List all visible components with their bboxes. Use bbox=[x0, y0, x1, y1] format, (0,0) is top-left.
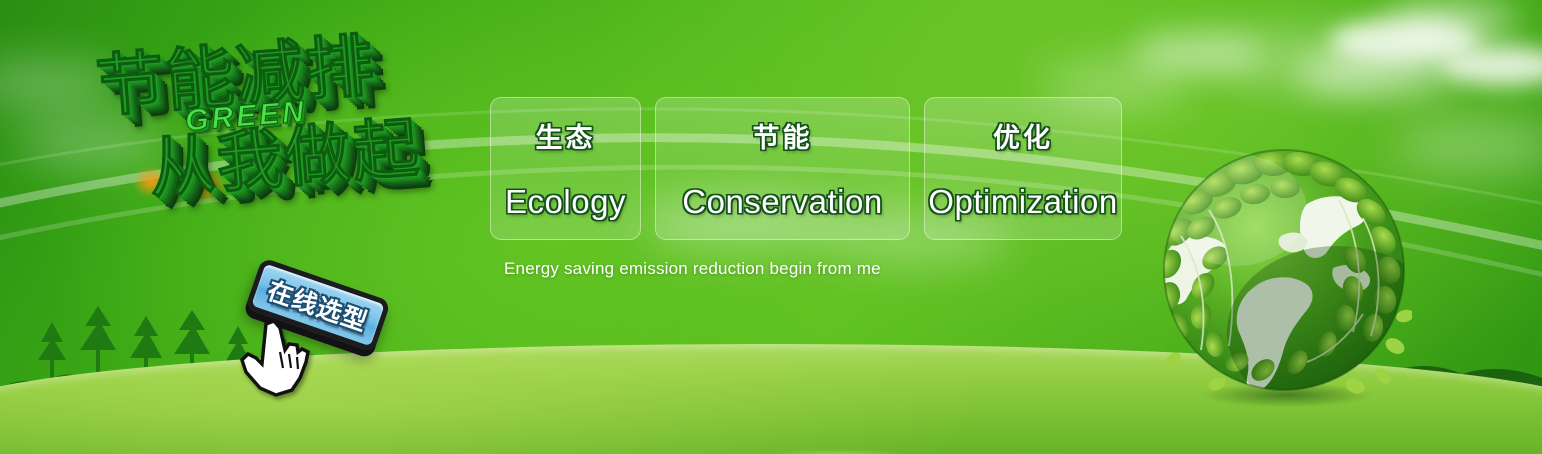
hero-title-line2: 从我做起 bbox=[146, 106, 498, 203]
cloud-icon bbox=[0, 62, 120, 106]
feature-card-title-en: Conservation bbox=[682, 183, 882, 221]
feature-card-title-cn: 优化 bbox=[993, 116, 1053, 155]
hero-title: 节能减排 GREEN 从我做起 bbox=[88, 21, 505, 282]
feature-card-ecology[interactable]: 生态 Ecology bbox=[490, 97, 641, 240]
eco-banner: 节能减排 GREEN 从我做起 在线选型 生态 Ecology 节能 Conse… bbox=[0, 0, 1542, 454]
cloud-icon bbox=[1386, 2, 1516, 42]
feature-card-title-en: Ecology bbox=[505, 183, 626, 221]
cloud-icon bbox=[1392, 120, 1542, 172]
cloud-icon bbox=[1216, 30, 1386, 88]
hero-title-line1: 节能减排 bbox=[94, 21, 492, 124]
cloud-icon bbox=[1296, 52, 1456, 96]
tagline: Energy saving emission reduction begin f… bbox=[504, 259, 881, 279]
cloud-icon bbox=[16, 120, 166, 166]
feature-card-title-cn: 节能 bbox=[753, 116, 813, 155]
flame-glow bbox=[115, 120, 449, 210]
cloud-icon bbox=[1132, 34, 1262, 72]
feature-card-title-en: Optimization bbox=[928, 183, 1117, 221]
feature-cards: 生态 Ecology 节能 Conservation 优化 Optimizati… bbox=[490, 97, 1122, 240]
ivy-covered-globe-icon bbox=[1157, 140, 1412, 402]
grass-texture bbox=[0, 398, 1542, 454]
cta-surface[interactable]: 在线选型 bbox=[245, 257, 391, 352]
cloud-icon bbox=[1440, 46, 1542, 86]
cta-label: 在线选型 bbox=[263, 271, 373, 339]
hero-title-green-word: GREEN bbox=[184, 80, 494, 138]
feature-card-conservation[interactable]: 节能 Conservation bbox=[655, 97, 910, 240]
online-selection-button[interactable]: 在线选型 bbox=[245, 257, 391, 352]
cloud-icon bbox=[1330, 18, 1480, 64]
feature-card-title-cn: 生态 bbox=[536, 116, 596, 155]
feature-card-optimization[interactable]: 优化 Optimization bbox=[924, 97, 1122, 240]
